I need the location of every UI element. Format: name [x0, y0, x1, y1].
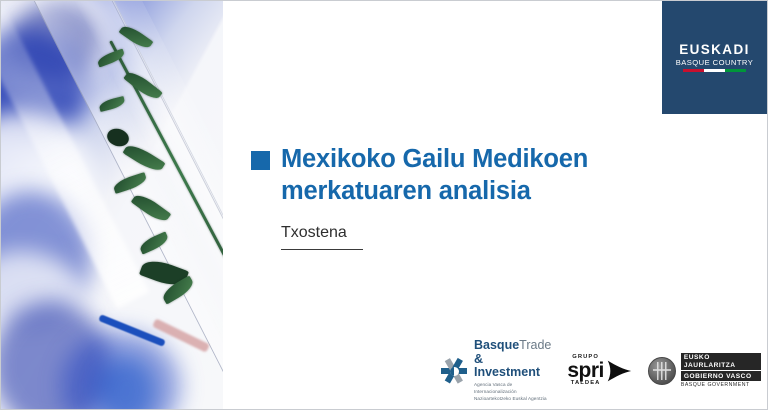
title-line-1: Mexikoko Gailu Medikoen	[281, 145, 588, 173]
basque-trade-name-line1: BasqueTrade	[474, 339, 551, 353]
spri-wordmark: spri	[567, 361, 604, 381]
basque-trade-text: BasqueTrade & Investment Agencia Vasca d…	[474, 339, 551, 403]
basque-trade-name-line2: & Investment	[474, 353, 551, 380]
spri-taldea-label: TALDEA	[567, 381, 604, 387]
spri-text: GRUPO spri TALDEA	[567, 355, 604, 387]
square-bullet-icon	[251, 151, 270, 170]
title-line-2: merkatuaren analisia	[281, 177, 531, 205]
euskadi-subtitle: BASQUE COUNTRY	[676, 59, 753, 67]
laboratory-photo	[1, 1, 223, 410]
title-block: Mexikoko Gailu Medikoen merkatuaren anal…	[251, 143, 671, 250]
government-line-en: BASQUE GOVERNMENT	[681, 383, 761, 389]
title-slide: EUSKADI BASQUE COUNTRY Mexikoko Gailu Me…	[0, 0, 768, 410]
euskadi-logo: EUSKADI BASQUE COUNTRY	[676, 43, 753, 71]
subtitle-underline	[281, 249, 363, 250]
basque-flag-bar	[683, 69, 746, 72]
basque-trade-tagline: Agencia Vasca de Internacionalización Na…	[474, 382, 551, 403]
basque-trade-logo: BasqueTrade & Investment Agencia Vasca d…	[441, 339, 551, 403]
arrow-icon	[606, 358, 632, 384]
euskadi-brand-block: EUSKADI BASQUE COUNTRY	[662, 1, 767, 114]
government-line-eus: EUSKO JAURLARITZA	[681, 353, 761, 370]
footer-logos: BasqueTrade & Investment Agencia Vasca d…	[441, 347, 761, 395]
page-subtitle: Txostena	[281, 224, 671, 242]
spri-logo: GRUPO spri TALDEA	[567, 355, 632, 387]
snowflake-icon	[441, 358, 467, 384]
government-emblem-icon	[648, 357, 676, 385]
euskadi-wordmark: EUSKADI	[676, 43, 753, 57]
government-line-es: GOBIERNO VASCO	[681, 371, 761, 381]
basque-government-text: EUSKO JAURLARITZA GOBIERNO VASCO BASQUE …	[681, 353, 761, 389]
page-title: Mexikoko Gailu Medikoen merkatuaren anal…	[281, 143, 671, 208]
basque-government-logo: EUSKO JAURLARITZA GOBIERNO VASCO BASQUE …	[648, 353, 761, 389]
